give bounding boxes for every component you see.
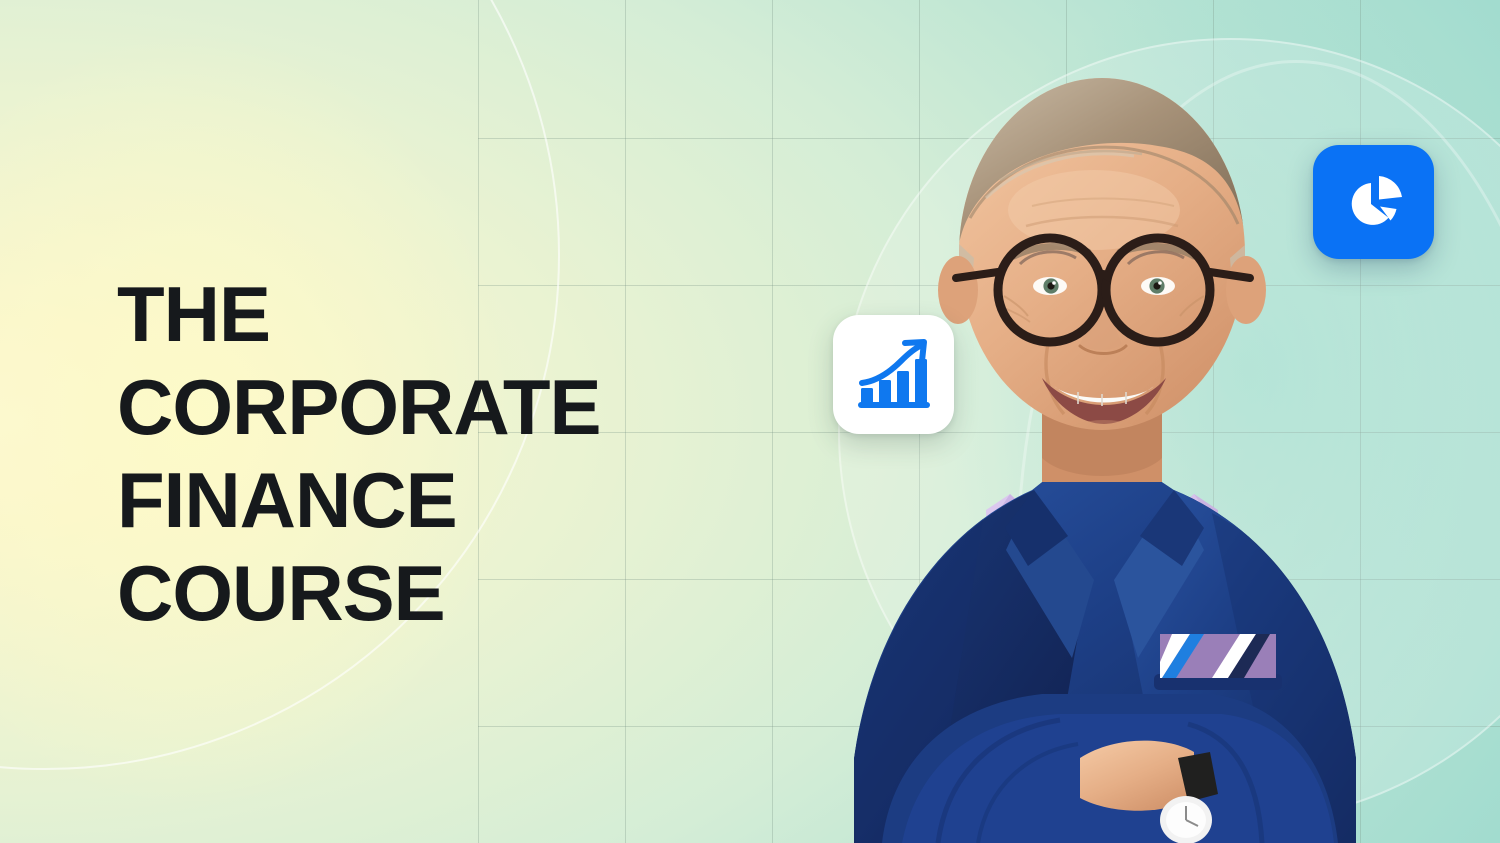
headline-line-3: FINANCE [117, 454, 737, 547]
headline-line-2: CORPORATE [117, 361, 737, 454]
banner-headline: THE CORPORATE FINANCE COURSE [117, 268, 737, 640]
course-promo-banner: THE CORPORATE FINANCE COURSE [0, 0, 1500, 843]
headline-line-4: COURSE [117, 547, 737, 640]
pie-chart-tile[interactable] [1313, 145, 1434, 259]
pie-chart-icon [1342, 170, 1406, 234]
headline-line-1: THE [117, 268, 737, 361]
growth-chart-tile[interactable] [833, 315, 954, 434]
bar-chart-growth-icon [857, 339, 931, 411]
